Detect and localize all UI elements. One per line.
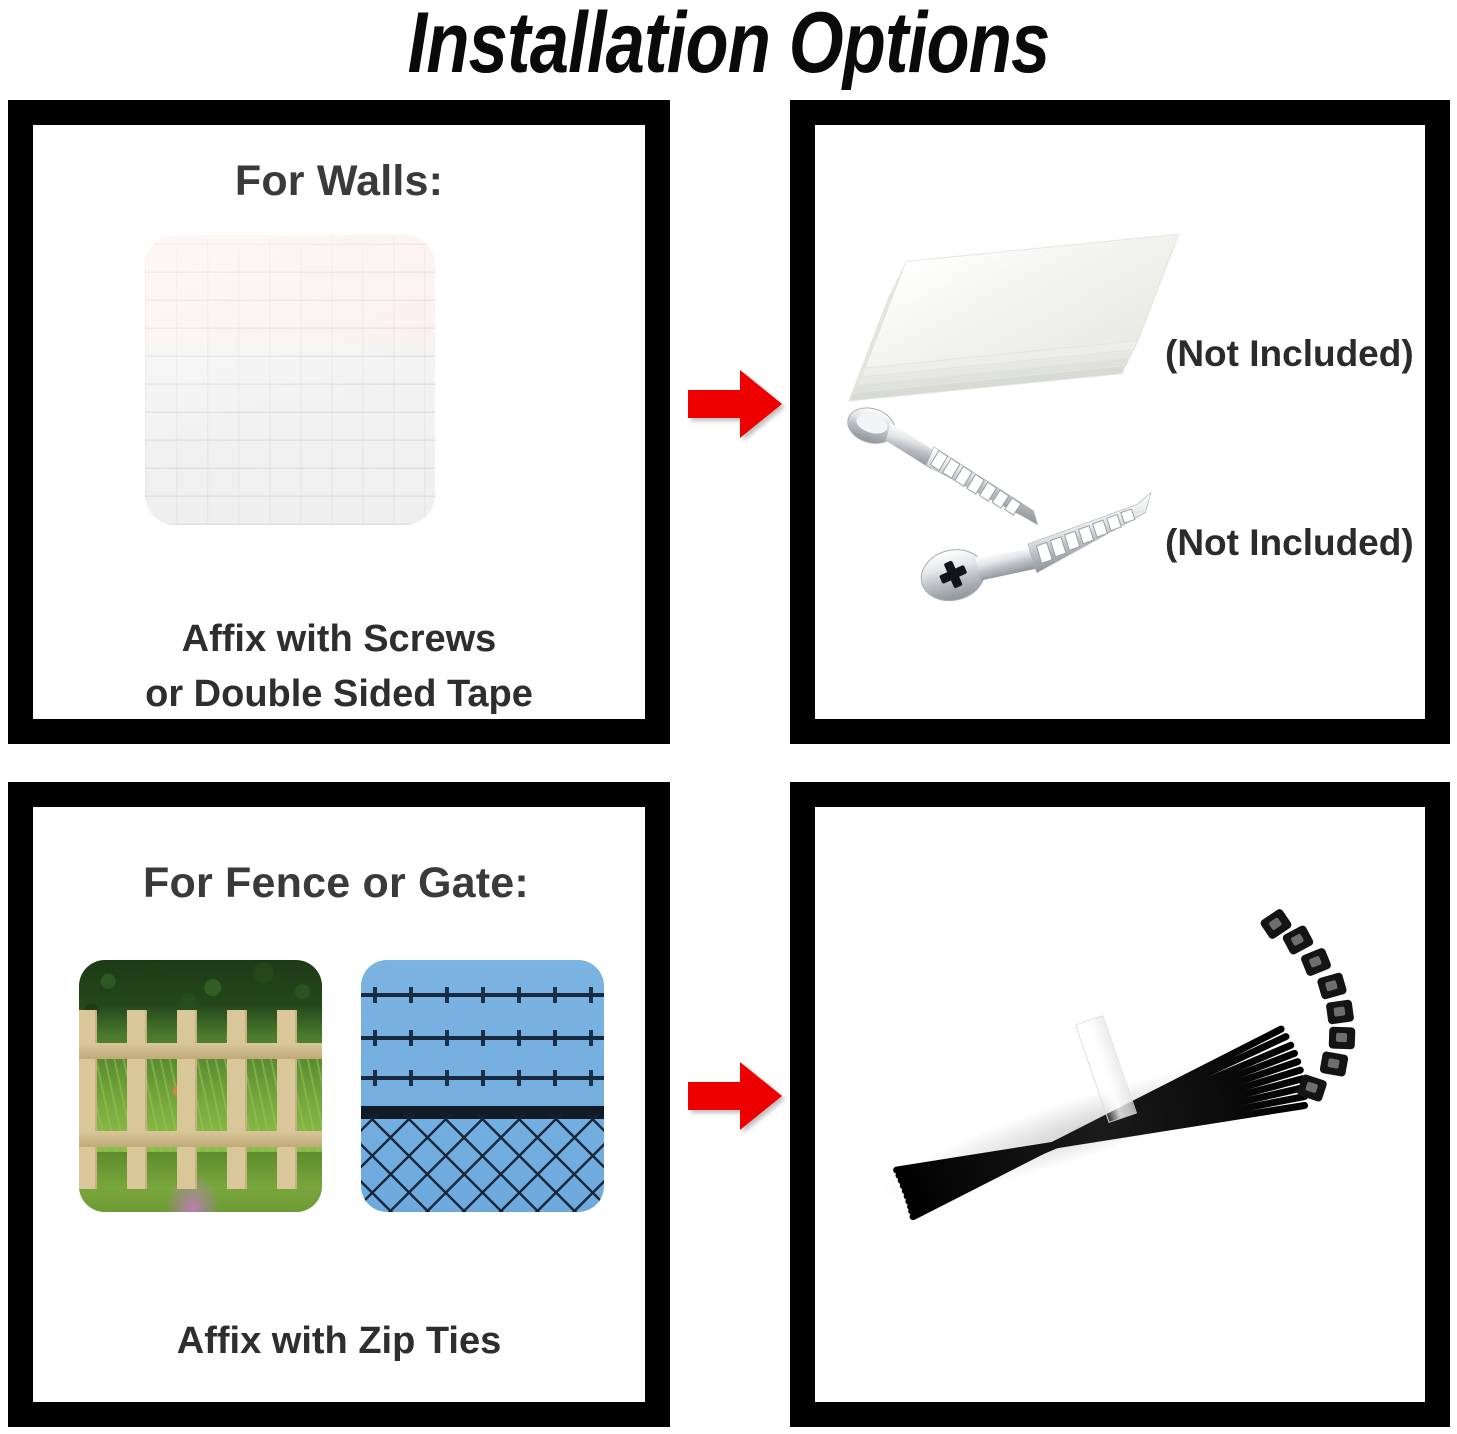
black-zip-ties-bundle [833,867,1353,1287]
double-sided-tape-stack [875,247,1165,397]
wooden-picket-fence-photo [79,960,322,1212]
red-right-arrow-bottom [688,1060,784,1132]
caption-for-fence: Affix with Zip Ties [33,1314,645,1369]
caption-line-1: Affix with Screws [33,612,645,667]
panel-heading-for-fence: For Fence or Gate: [33,859,645,908]
caption-for-walls: Affix with Screws or Double Sided Tape [33,612,645,719]
caption-line-1: Affix with Zip Ties [33,1314,645,1369]
chain-link-barbed-wire-fence-photo [361,960,604,1212]
installation-options-infographic: Installation Options For Walls: Affix wi… [0,0,1457,1434]
zip-tie-head [1316,972,1347,1000]
fence-pickets [79,1010,322,1189]
zip-tie-head [1319,1051,1348,1077]
barbed-wire-strand [361,1076,604,1080]
barbed-wire-strand [361,993,604,997]
zip-tie-head [1326,999,1355,1024]
panel-for-walls: For Walls: Affix with Screws or Double S… [8,100,670,744]
page-title: Installation Options [131,0,1326,88]
white-brick-wall-photo [145,235,435,525]
red-right-arrow-top [688,368,784,440]
panel-hardware: (Not Included) [790,100,1450,744]
barbed-wire-strand [361,1036,604,1040]
tape-not-included-label: (Not Included) [1165,333,1414,375]
panel-zip-ties: (Not Included) [790,782,1450,1427]
chain-link-mesh [361,1114,604,1212]
caption-line-2: or Double Sided Tape [33,667,645,719]
zip-tie-head [1329,1027,1356,1050]
panel-heading-for-walls: For Walls: [33,157,645,206]
zip-tie-head [1300,947,1332,977]
screws-not-included-label: (Not Included) [1165,522,1414,564]
fence-rail [79,1043,322,1059]
fence-rail [79,1131,322,1147]
photo-sheen [145,235,435,525]
panel-for-fence-or-gate: For Fence or Gate: [8,782,670,1427]
